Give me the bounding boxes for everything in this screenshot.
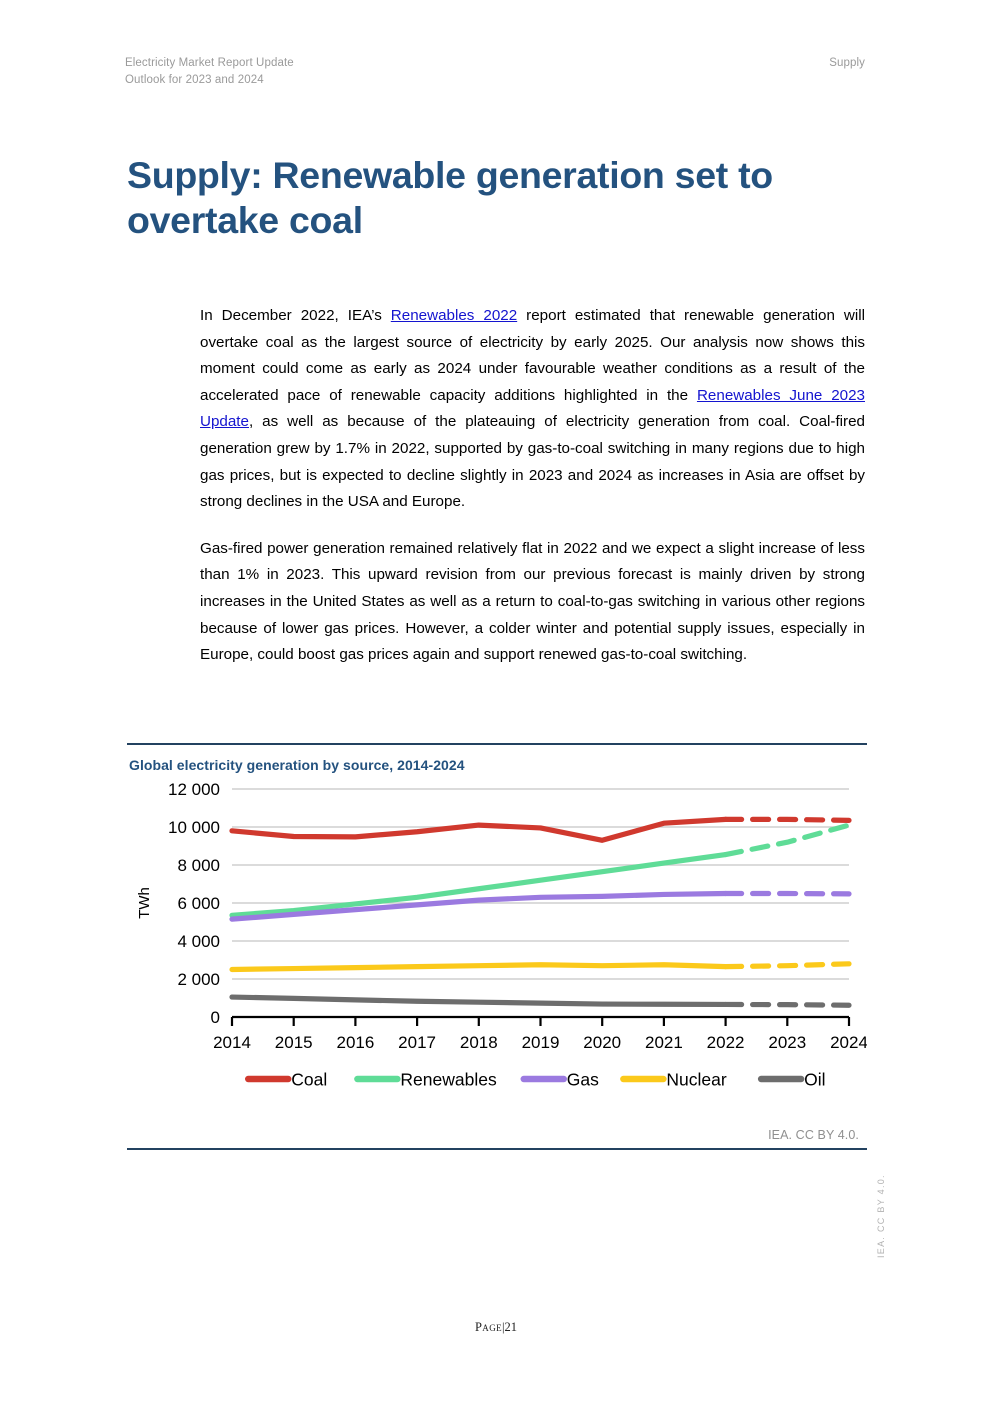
series-line-coal bbox=[232, 820, 726, 841]
x-tick-label: 2017 bbox=[398, 1033, 436, 1052]
series-line-gas bbox=[232, 894, 726, 920]
x-tick-label: 2019 bbox=[522, 1033, 560, 1052]
legend-item-renewables[interactable]: Renewables bbox=[357, 1070, 497, 1090]
legend-label: Gas bbox=[567, 1070, 599, 1090]
page-title: Supply: Renewable generation set to over… bbox=[127, 153, 867, 243]
y-tick-label: 6 000 bbox=[177, 894, 220, 913]
legend-label: Nuclear bbox=[666, 1070, 726, 1090]
series-line-forecast-nuclear bbox=[726, 964, 849, 967]
paragraph-1-segment-1: In December 2022, IEA’s bbox=[200, 307, 391, 324]
body-column: In December 2022, IEA’s Renewables 2022 … bbox=[200, 303, 865, 669]
legend-label: Oil bbox=[804, 1070, 825, 1090]
x-tick-label: 2015 bbox=[275, 1033, 313, 1052]
footer-page-number: 21 bbox=[505, 1320, 518, 1334]
legend-item-gas[interactable]: Gas bbox=[524, 1070, 599, 1090]
running-head-left: Electricity Market Report Update Outlook… bbox=[125, 55, 294, 88]
y-tick-label: 10 000 bbox=[168, 818, 220, 837]
x-tick-label: 2024 bbox=[830, 1033, 867, 1052]
legend-label: Coal bbox=[291, 1070, 327, 1090]
x-tick-label: 2020 bbox=[583, 1033, 621, 1052]
paragraph-1: In December 2022, IEA’s Renewables 2022 … bbox=[200, 303, 865, 516]
series-line-renewables bbox=[232, 855, 726, 916]
series-line-forecast-renewables bbox=[726, 825, 849, 854]
chart-area: TWh02 0004 0006 0008 00010 00012 0002014… bbox=[127, 779, 867, 1124]
y-tick-label: 8 000 bbox=[177, 856, 220, 875]
link-renewables-2022[interactable]: Renewables 2022 bbox=[391, 307, 517, 324]
figure-credit: IEA. CC BY 4.0. bbox=[127, 1124, 867, 1142]
footer-page-label: Page bbox=[475, 1320, 502, 1334]
paragraph-1-segment-3: , as well as because of the plateauing o… bbox=[200, 413, 865, 510]
x-tick-label: 2016 bbox=[336, 1033, 374, 1052]
x-tick-label: 2023 bbox=[768, 1033, 806, 1052]
paragraph-2: Gas-fired power generation remained rela… bbox=[200, 536, 865, 669]
legend-item-coal[interactable]: Coal bbox=[248, 1070, 327, 1090]
series-line-forecast-oil bbox=[726, 1005, 849, 1006]
y-tick-label: 4 000 bbox=[177, 932, 220, 951]
x-tick-label: 2022 bbox=[707, 1033, 745, 1052]
x-tick-label: 2014 bbox=[213, 1033, 251, 1052]
line-chart: TWh02 0004 0006 0008 00010 00012 0002014… bbox=[127, 779, 867, 1124]
figure-title: Global electricity generation by source,… bbox=[127, 745, 867, 779]
legend-item-oil[interactable]: Oil bbox=[761, 1070, 825, 1090]
page-footer: Page|21 bbox=[0, 1320, 992, 1335]
figure-block: Global electricity generation by source,… bbox=[127, 743, 867, 1150]
y-tick-label: 12 000 bbox=[168, 780, 220, 799]
legend-label: Renewables bbox=[400, 1070, 497, 1090]
side-credit-text: IEA. CC BY 4.0. bbox=[876, 1174, 886, 1258]
y-tick-label: 0 bbox=[211, 1008, 220, 1027]
running-head: Electricity Market Report Update Outlook… bbox=[125, 55, 865, 88]
figure-bottom-rule bbox=[127, 1148, 867, 1150]
x-tick-label: 2021 bbox=[645, 1033, 683, 1052]
legend-item-nuclear[interactable]: Nuclear bbox=[623, 1070, 726, 1090]
x-tick-label: 2018 bbox=[460, 1033, 498, 1052]
y-tick-label: 2 000 bbox=[177, 970, 220, 989]
series-line-nuclear bbox=[232, 965, 726, 970]
side-credit: IEA. CC BY 4.0. bbox=[876, 1174, 886, 1258]
series-line-forecast-coal bbox=[726, 820, 849, 821]
running-head-right: Supply bbox=[829, 55, 865, 72]
y-axis-title: TWh bbox=[136, 887, 153, 919]
series-line-oil bbox=[232, 997, 726, 1004]
